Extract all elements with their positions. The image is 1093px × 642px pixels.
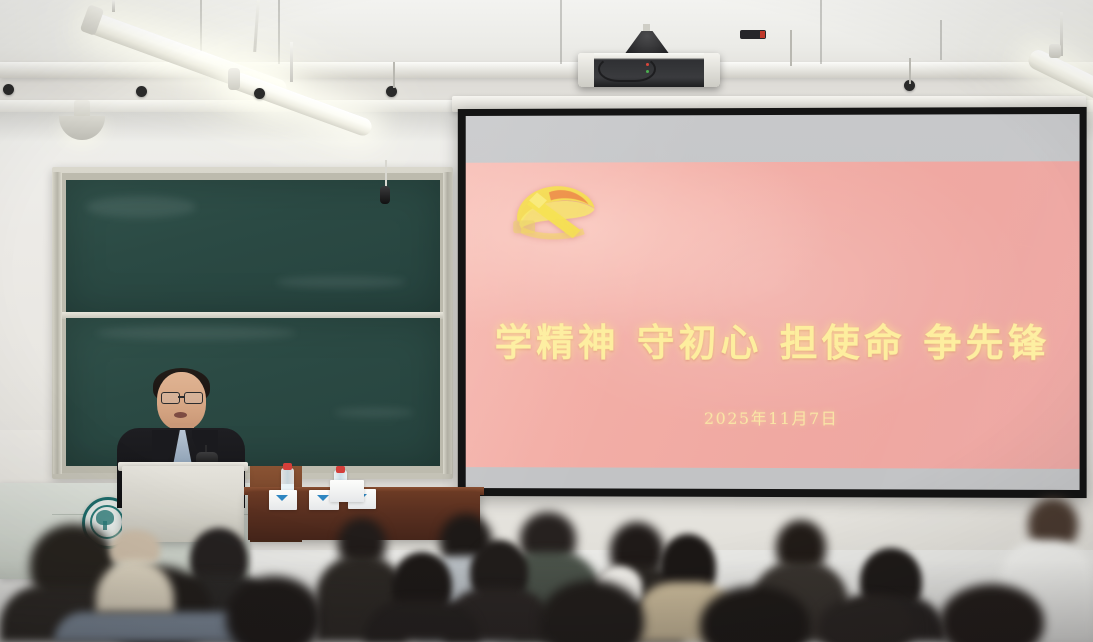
projected-slide: 学精神 守初心 担使命 争先锋 2025年11月7日 bbox=[466, 161, 1080, 469]
audience-body bbox=[364, 600, 480, 642]
projector-lens-housing bbox=[578, 53, 594, 87]
name-placard bbox=[330, 480, 364, 502]
projector-cable bbox=[598, 56, 656, 82]
water-bottle-cap bbox=[336, 466, 345, 473]
ceiling-fan-rod bbox=[909, 58, 911, 84]
ceiling-fan-rod bbox=[393, 62, 395, 88]
ceiling-beam-upper bbox=[0, 62, 1093, 78]
ceiling-fan-mount bbox=[386, 86, 397, 97]
tube-light-rod bbox=[112, 0, 115, 12]
audience-hat bbox=[110, 530, 160, 564]
ceiling-fan-mount bbox=[3, 84, 14, 95]
university-emblem-stem bbox=[103, 521, 107, 530]
water-bottle-cap bbox=[283, 463, 292, 470]
speaker-glasses-bridge bbox=[178, 396, 184, 398]
classroom-scene: 学精神 守初心 担使命 争先锋 2025年11月7日 bbox=[0, 0, 1093, 642]
projector-rear-panel bbox=[704, 53, 720, 87]
projector-status-led bbox=[646, 63, 649, 66]
slide-title: 学精神 守初心 担使命 争先锋 bbox=[466, 312, 1080, 367]
ceiling-fan-mount bbox=[254, 88, 265, 99]
microphone-cable bbox=[385, 160, 387, 188]
tube-light-cap bbox=[228, 68, 240, 90]
projection-screen: 学精神 守初心 担使命 争先锋 2025年11月7日 bbox=[458, 107, 1087, 498]
ceiling-seam bbox=[940, 20, 942, 60]
chalkboard-track-left bbox=[53, 172, 62, 474]
ceiling-seam bbox=[278, 0, 280, 64]
speaker-glasses-left bbox=[161, 392, 180, 404]
ceiling-seam bbox=[820, 0, 822, 64]
slide-date: 2025年11月7日 bbox=[466, 404, 1080, 429]
chalkboard-track-right bbox=[443, 172, 452, 474]
wall-switch-indicator bbox=[760, 31, 765, 38]
ceiling-seam bbox=[560, 0, 562, 64]
speaker-glasses-right bbox=[184, 392, 203, 404]
ceiling-fan-mount bbox=[136, 86, 147, 97]
projector-power-led bbox=[646, 70, 649, 73]
hanging-microphone bbox=[380, 186, 390, 204]
tube-light-rod bbox=[290, 42, 293, 82]
speaker-mouth bbox=[174, 412, 187, 418]
lamp-stem bbox=[1049, 44, 1061, 58]
ceiling-fan-rod bbox=[790, 30, 792, 66]
hammer-and-sickle-emblem bbox=[501, 176, 605, 248]
audience-head bbox=[226, 576, 322, 642]
